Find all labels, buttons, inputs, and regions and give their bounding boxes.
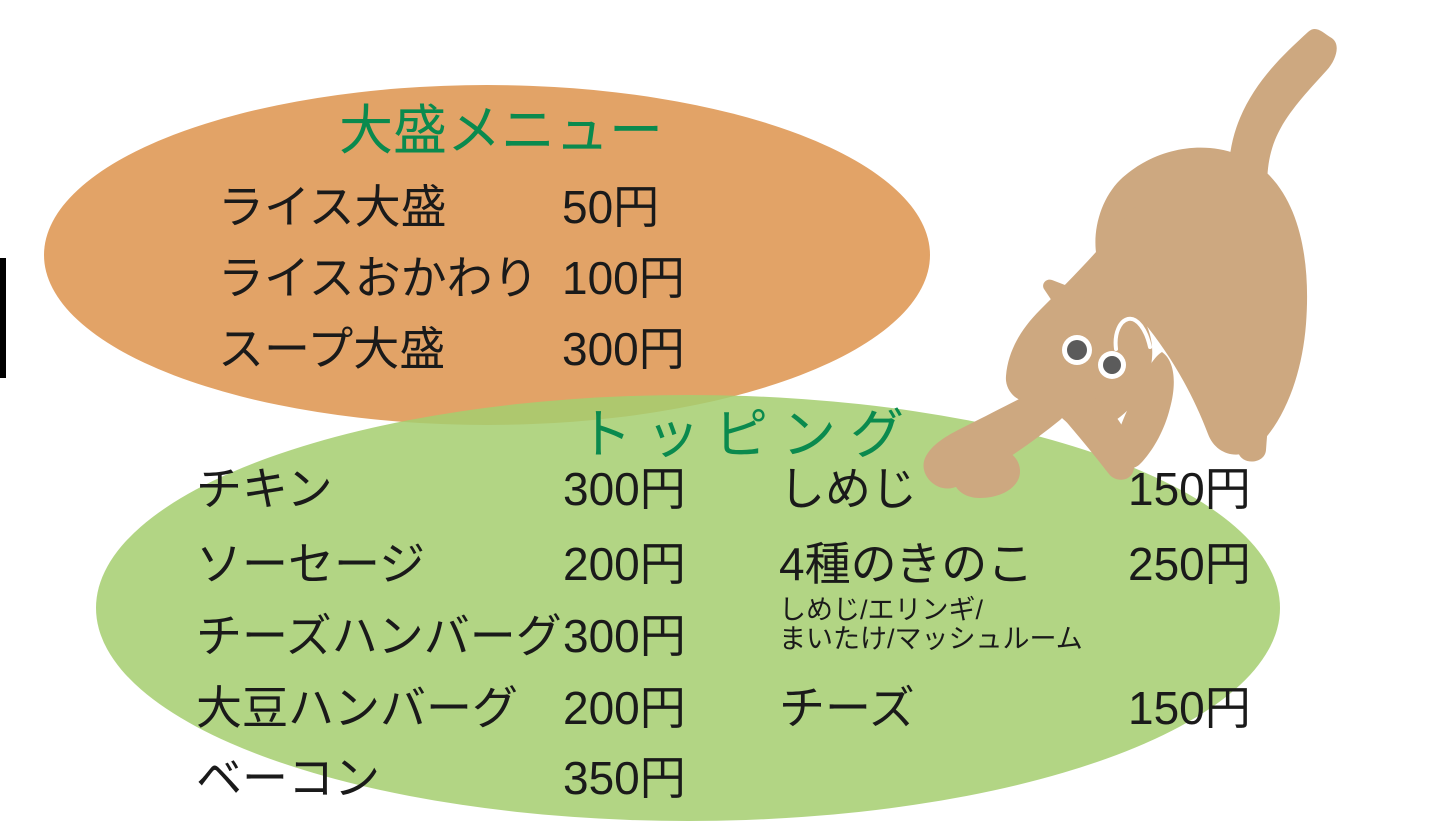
topping-left-item: チキン	[196, 466, 333, 512]
topping-right-note-line2: まいたけ/マッシュルーム	[779, 624, 1083, 654]
oomori-row-price: 100円	[562, 255, 685, 301]
topping-right-price: 150円	[1128, 685, 1251, 731]
topping-left-price: 200円	[563, 685, 686, 731]
oomori-row-item: スープ大盛	[218, 326, 445, 372]
topping-left-item: 大豆ハンバーグ	[196, 685, 518, 731]
topping-right-item: 4種のきのこ	[779, 541, 1033, 587]
topping-left-price: 350円	[563, 755, 686, 801]
topping-left-price: 300円	[563, 466, 686, 512]
topping-right-note-line1: しめじ/エリンギ/	[779, 595, 983, 625]
topping-left-price: 200円	[563, 541, 686, 587]
cat-icon	[924, 29, 1337, 498]
oomori-row-price: 300円	[562, 326, 685, 372]
topping-right-price: 150円	[1128, 466, 1251, 512]
topping-left-price: 300円	[563, 613, 686, 659]
oomori-row-price: 50円	[562, 184, 659, 230]
cat-eye-right	[1103, 356, 1121, 374]
menu-board: 大盛メニュー ライス大盛 50円 ライスおかわり 100円 スープ大盛 300円…	[0, 0, 1440, 829]
cat-eye-left	[1067, 340, 1087, 360]
topping-left-item: ベーコン	[196, 755, 380, 801]
oomori-row-item: ライスおかわり	[218, 255, 539, 301]
topping-right-item: しめじ	[779, 466, 917, 512]
oomori-menu-heading: 大盛メニュー	[339, 104, 663, 158]
topping-right-item: チーズ	[779, 685, 915, 731]
topping-right-note: しめじ/エリンギ/まいたけ/マッシュルーム	[779, 596, 1083, 654]
topping-left-item: チーズハンバーグ	[196, 613, 562, 659]
topping-right-price: 250円	[1128, 541, 1251, 587]
topping-left-item: ソーセージ	[196, 541, 425, 587]
oomori-row-item: ライス大盛	[218, 184, 447, 230]
left-edge-rule	[0, 258, 6, 378]
topping-heading: トッピング	[578, 408, 918, 462]
